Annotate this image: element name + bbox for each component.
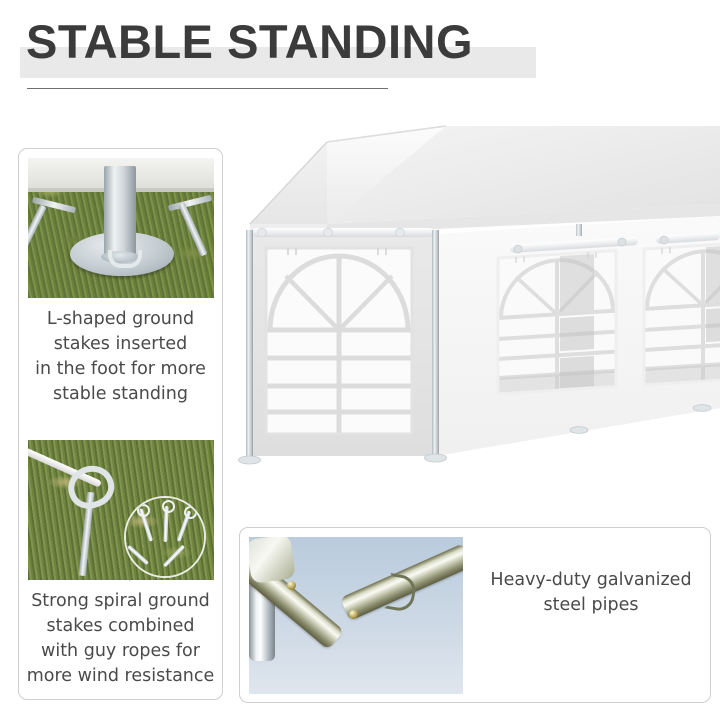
galvanized-pole [104,166,136,258]
front-window [266,248,412,434]
galvanized-steel-pipe-joint-photo [249,537,463,694]
caption-line: steel pipes [472,593,710,618]
title-underline-rule [27,88,388,89]
steel-pipes-card: Heavy-duty galvanized steel pipes [239,527,711,703]
left-feature-card: L-shaped ground stakes inserted in the f… [18,148,223,700]
pipe-elbow-joint [249,537,296,584]
spiral-ground-stake-with-guy-rope-photo [28,440,214,580]
product-image-party-tent [232,108,720,518]
steel-pipes-text-area: Heavy-duty galvanized steel pipes [472,568,710,618]
mini-stake-ring [162,500,175,513]
caption-ground-stakes: L-shaped ground stakes inserted in the f… [19,307,222,407]
caption-line: Heavy-duty galvanized [472,568,710,593]
caption-spiral-stakes: Strong spiral ground stakes combined wit… [19,589,222,689]
foot-clip [108,250,142,268]
side-window-2 [644,242,720,385]
caption-line: with guy ropes for [23,639,218,664]
bolt [287,581,296,590]
front-curtain-rail [252,228,434,237]
caption-steel-pipes: Heavy-duty galvanized steel pipes [472,568,710,618]
caption-line: stakes combined [23,614,218,639]
tent-illustration [232,108,720,518]
caption-line: L-shaped ground [23,307,218,332]
stake-detail-circle-inset [124,496,206,578]
leg-side-far [693,405,711,412]
caption-line: stable standing [23,382,218,407]
caption-line: Strong spiral ground [23,589,218,614]
feature-block-ground-stakes: L-shaped ground stakes inserted in the f… [19,149,222,407]
side-window-1 [498,251,616,394]
feature-block-spiral-stakes: Strong spiral ground stakes combined wit… [19,431,222,689]
page-title: STABLE STANDING [26,14,473,70]
bolt [349,610,358,619]
mini-stake-ring [137,504,150,517]
mini-stake-ring [184,506,197,519]
caption-line: more wind resistance [23,664,218,689]
caption-line: in the foot for more [23,357,218,382]
pole-foot-plate-with-l-stakes-photo [28,158,214,298]
header: STABLE STANDING [0,0,720,108]
caption-line: stakes inserted [23,332,218,357]
